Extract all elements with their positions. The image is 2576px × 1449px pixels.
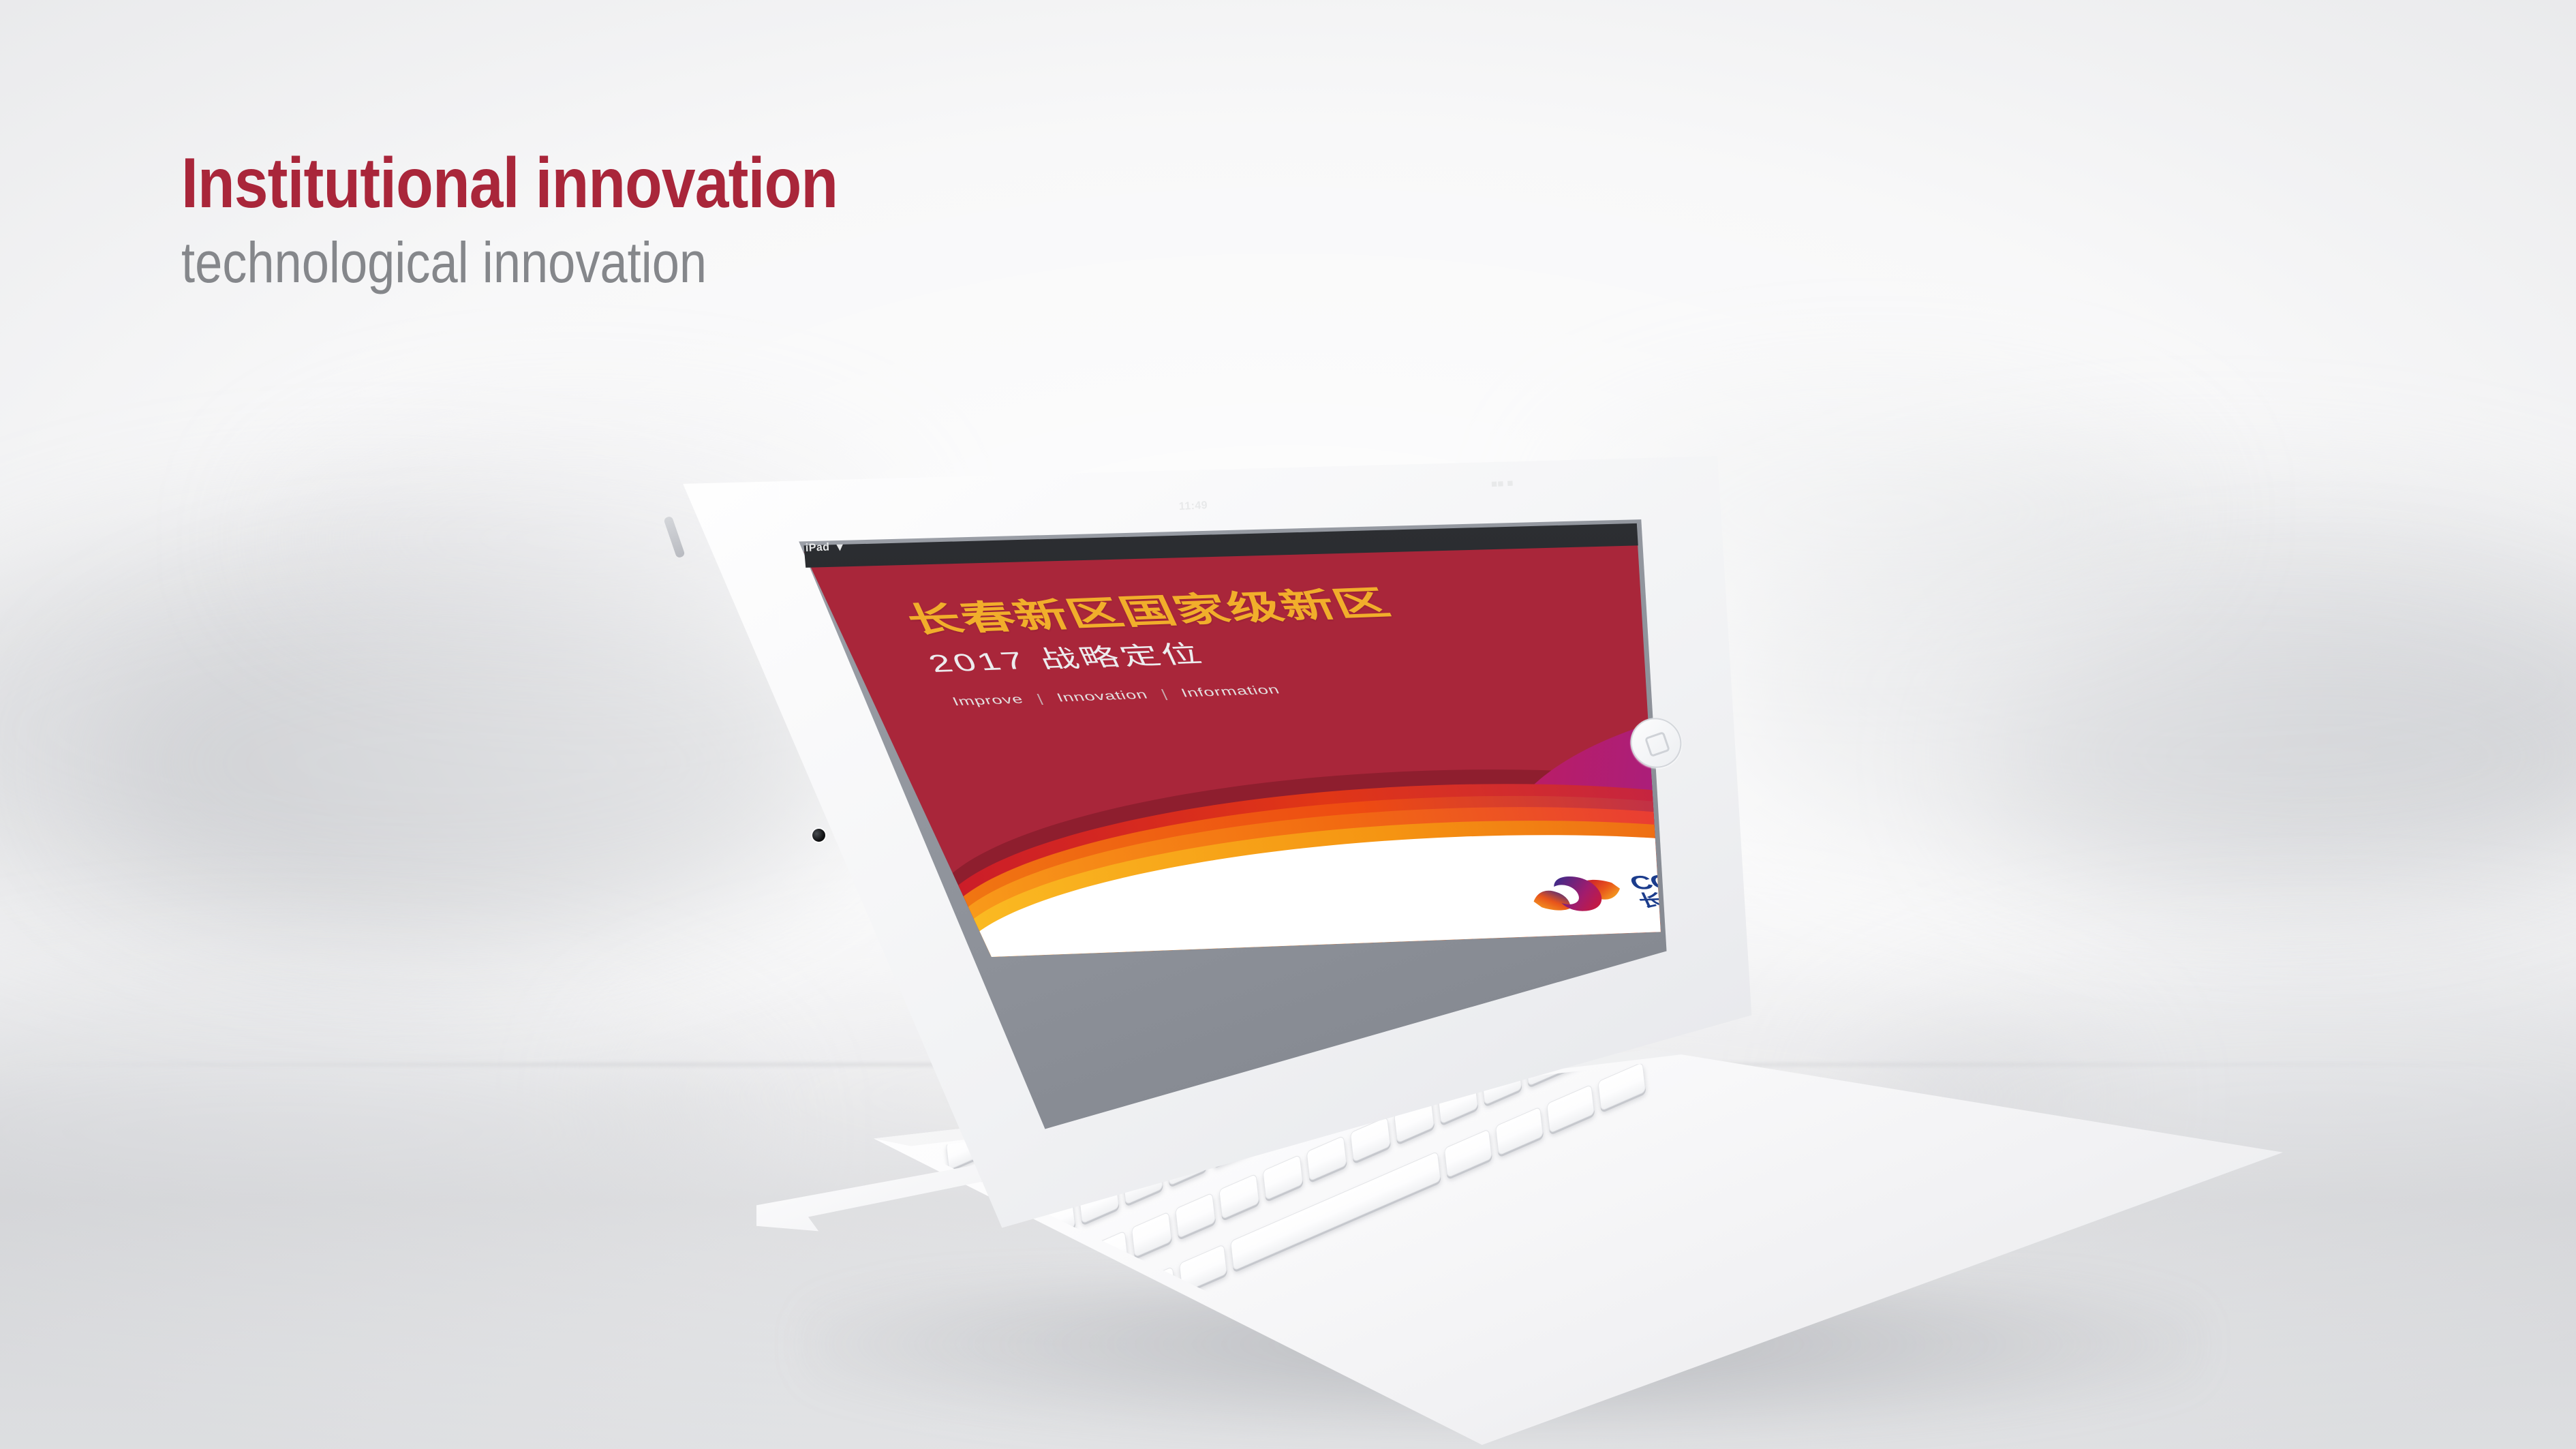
key[interactable] [1546,1084,1595,1133]
battery-icon: ■■ ■ [1491,478,1514,490]
tag-separator: | [1034,692,1046,705]
volume-button[interactable] [663,516,685,559]
scene-background: Institutional innovation technological i… [0,0,2576,1449]
camera-icon [810,827,827,843]
key[interactable] [1131,1211,1172,1257]
key[interactable] [1262,1155,1303,1201]
slide-subtitle: 2017 战略定位 [921,635,1210,680]
key[interactable] [1218,1174,1259,1220]
slide-title: 长春新区国家级新区 [896,576,1398,642]
key[interactable] [1597,1062,1646,1111]
wifi-icon: ▾ [837,540,844,554]
status-carrier-label: iPad [806,541,830,555]
ccna-swoosh-icon [1520,871,1632,916]
slide-tagline: Improve | Innovation | Information [950,683,1282,709]
status-time: 11:49 [1179,500,1208,513]
tag-separator: | [1159,687,1170,701]
key[interactable] [1444,1129,1492,1178]
key[interactable] [1306,1135,1347,1182]
tag-innovation: Innovation [1054,688,1150,705]
key[interactable] [1175,1193,1216,1239]
tablet-device: 长春新区国家级新区 2017 战略定位 Improve | Innovation… [0,0,2576,1449]
key[interactable] [1495,1106,1544,1155]
tag-improve: Improve [950,692,1026,708]
tag-information: Information [1179,683,1283,700]
